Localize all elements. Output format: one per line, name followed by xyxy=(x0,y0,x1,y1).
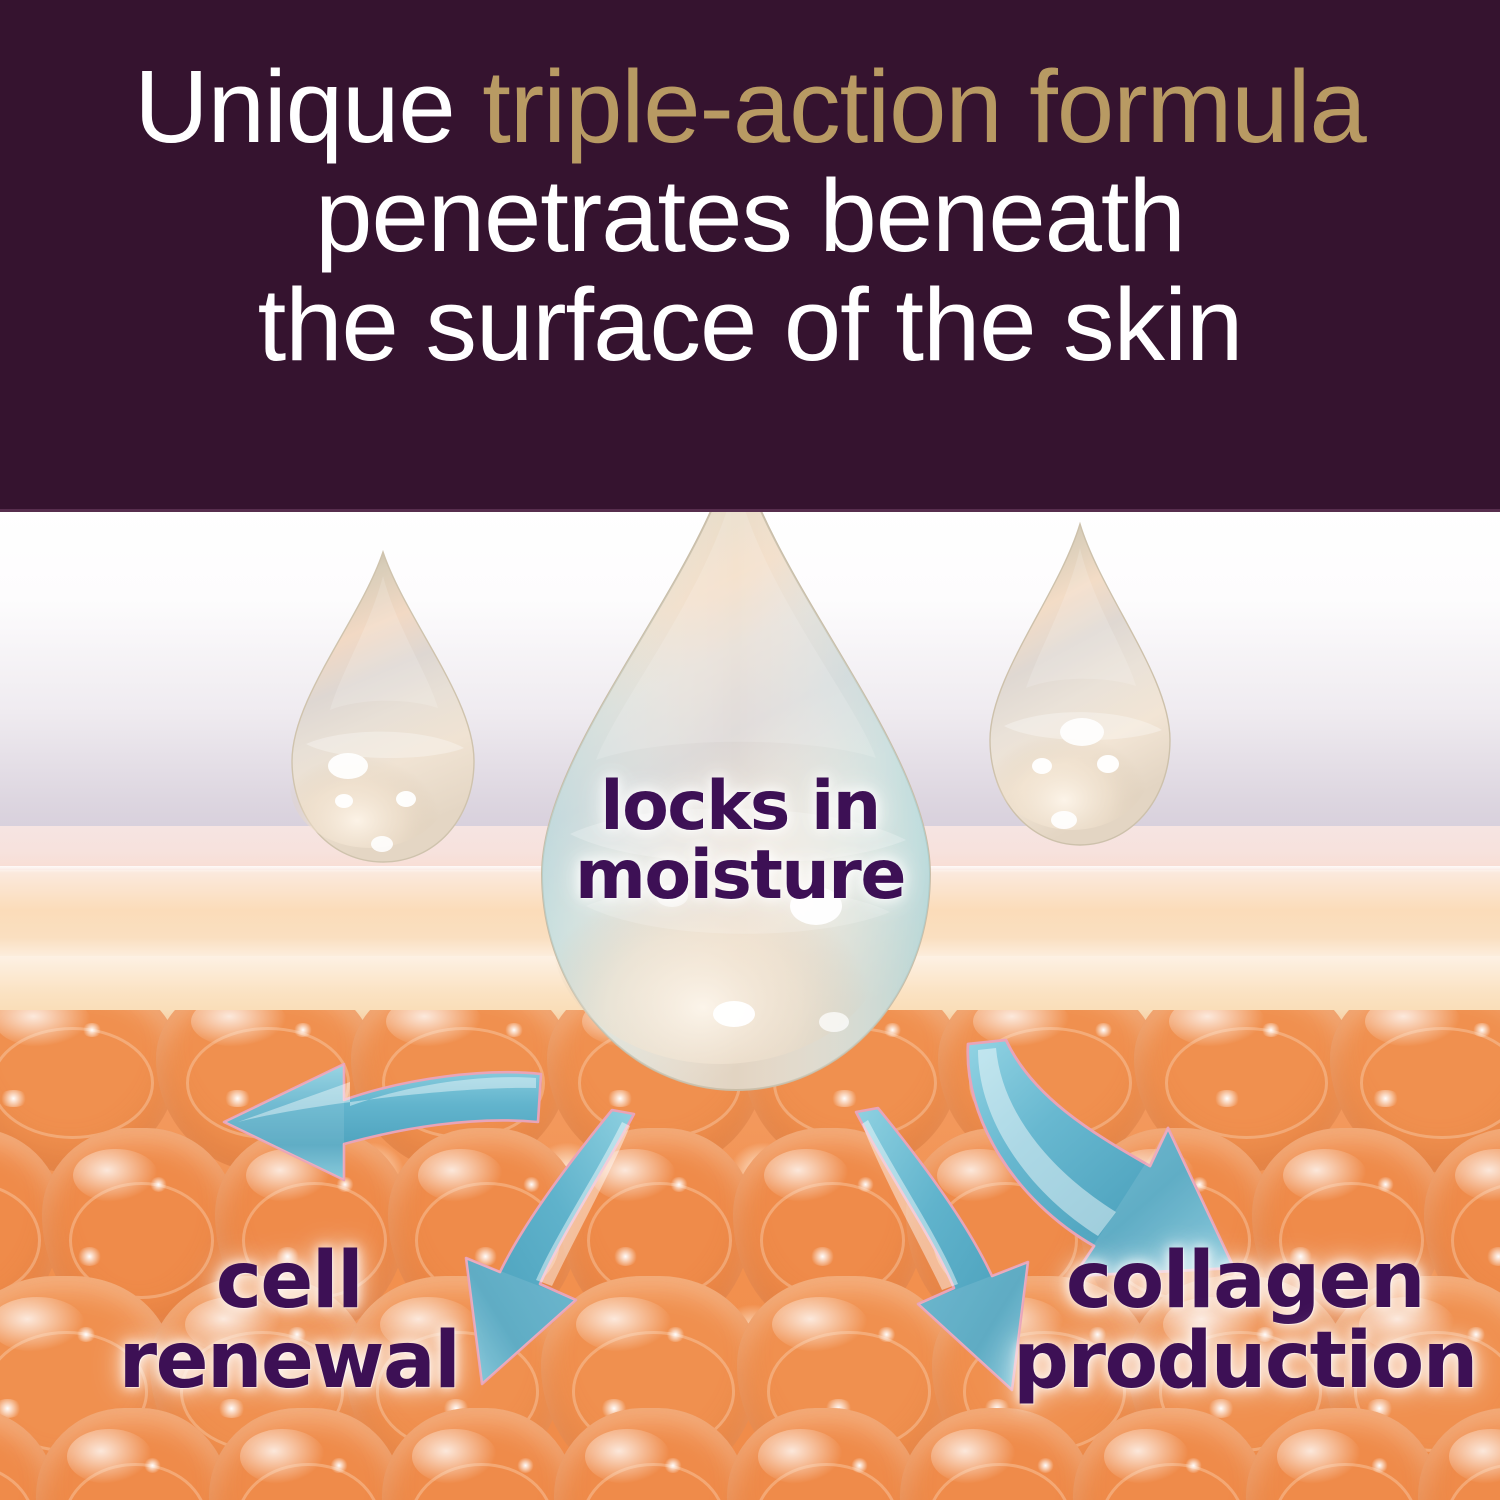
callout-collagen-line2: production xyxy=(1000,1322,1490,1402)
callout-cell-line1: cell xyxy=(74,1242,504,1322)
cell-highlight xyxy=(1185,1458,1202,1473)
headline-line-1-white: Unique xyxy=(134,49,482,164)
headline: Unique triple-action formula penetrates … xyxy=(0,52,1500,380)
cell-highlight xyxy=(0,1090,28,1108)
cell-highlight xyxy=(670,1177,687,1191)
cell-highlight xyxy=(666,1327,686,1342)
callout-collagen-production: collagen production xyxy=(1000,1242,1490,1401)
callout-cell-renewal: cell renewal xyxy=(74,1242,504,1401)
headline-line-2: penetrates beneath xyxy=(0,161,1500,270)
infographic-canvas: locks in moisture cell renewal collagen … xyxy=(0,0,1500,1500)
cell-highlight xyxy=(504,1023,524,1037)
header-band: Unique triple-action formula penetrates … xyxy=(0,0,1500,512)
cell-highlight xyxy=(517,1458,534,1473)
cell-highlight xyxy=(1377,1177,1394,1191)
cell-highlight xyxy=(330,1458,347,1473)
headline-line-1-gold: triple-action formula xyxy=(482,49,1365,164)
cell-highlight xyxy=(293,1023,313,1037)
cell-highlight xyxy=(82,1023,102,1037)
cell-highlight xyxy=(664,1458,681,1473)
callout-collagen-line1: collagen xyxy=(1000,1242,1490,1322)
callout-moisture-line2: moisture xyxy=(540,841,940,910)
cell-highlight xyxy=(851,1458,868,1473)
callout-moisture-line1: locks in xyxy=(540,772,940,841)
cell-highlight xyxy=(1037,1458,1054,1473)
cell-inner-ring xyxy=(1360,1027,1500,1139)
cell-highlight xyxy=(1371,1458,1388,1473)
cell-highlight xyxy=(1371,1090,1399,1108)
droplet-left xyxy=(278,548,488,866)
headline-line-1: Unique triple-action formula xyxy=(0,52,1500,161)
headline-line-3: the surface of the skin xyxy=(0,270,1500,379)
droplet-right xyxy=(980,520,1180,850)
cell-highlight xyxy=(1472,1023,1492,1037)
callout-locks-in-moisture: locks in moisture xyxy=(540,772,940,911)
cell-inner-ring xyxy=(0,1027,154,1139)
cell-inner-ring xyxy=(0,1463,35,1500)
callout-cell-line2: renewal xyxy=(74,1322,504,1402)
